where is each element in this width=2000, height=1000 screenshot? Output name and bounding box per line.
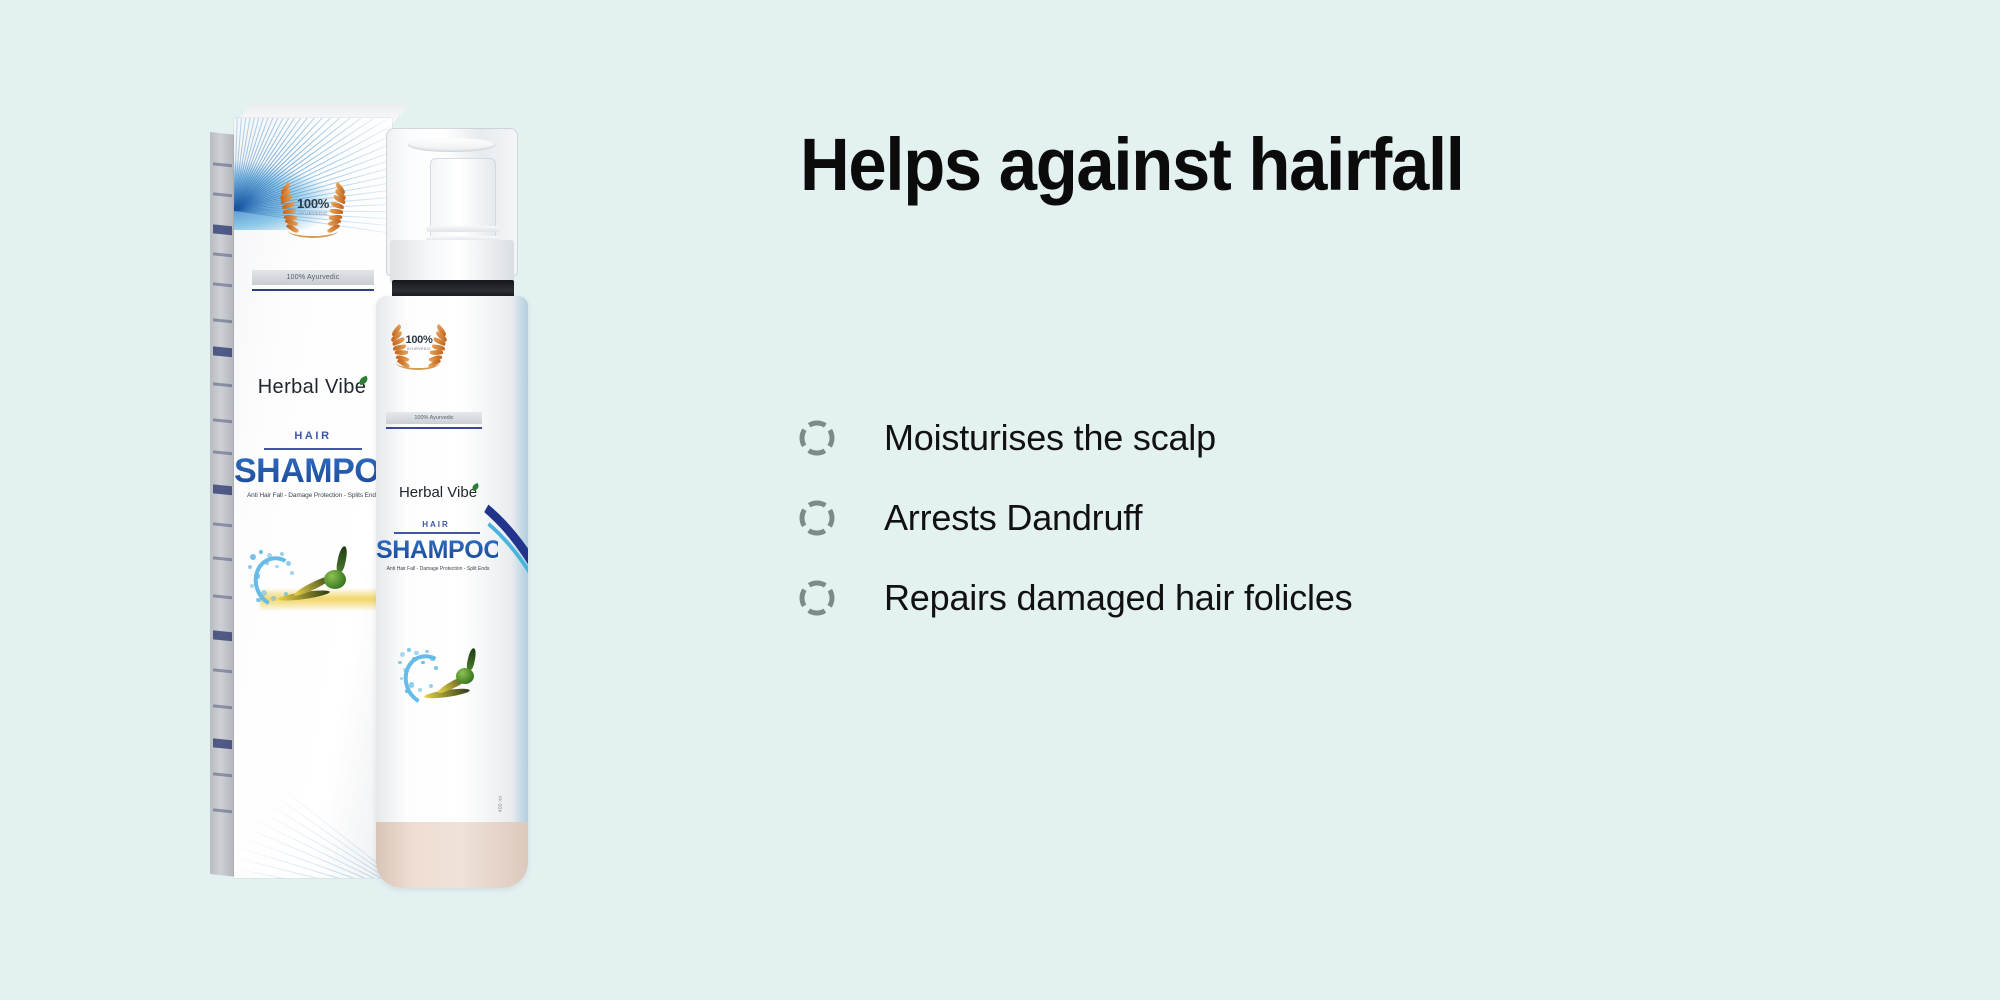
bottle-splash-graphic — [398, 648, 494, 734]
carton-ayurvedic-band: 100% Ayurvedic — [252, 270, 374, 285]
bottle-ayurvedic-band-text: 100% Ayurvedic — [414, 415, 453, 421]
water-splash-icon — [398, 648, 456, 710]
splash-droplet — [434, 666, 438, 670]
bottle-cap-collar — [390, 240, 514, 284]
splash-droplet — [430, 657, 434, 661]
carton-side-text-line — [213, 808, 232, 813]
wreath-base-arc — [288, 223, 338, 238]
bottle-band-rule — [386, 427, 482, 429]
carton-side-text-line — [213, 382, 232, 387]
bottle-category-rule — [394, 532, 480, 534]
olive-fruit-icon — [324, 570, 346, 589]
splash-droplet — [412, 657, 416, 661]
carton-side-text-line — [213, 704, 232, 709]
carton-side-panel — [210, 132, 236, 877]
splash-droplet — [429, 684, 433, 688]
splash-droplet — [250, 584, 254, 588]
wreath-base-arc — [396, 355, 440, 370]
splash-droplet — [248, 565, 252, 569]
splash-droplet — [250, 554, 256, 560]
splash-droplet — [261, 590, 267, 596]
carton-side-text-line — [213, 668, 232, 673]
benefit-item: Moisturises the scalp — [800, 398, 1900, 478]
splash-droplet — [405, 689, 409, 693]
splash-droplet — [421, 661, 424, 664]
benefit-label: Moisturises the scalp — [884, 417, 1216, 459]
carton-side-text-line — [213, 162, 232, 167]
benefits-list: Moisturises the scalpArrests DandruffRep… — [800, 398, 1900, 638]
product-banner: 100% AYURVEDIC 100% Ayurvedic Herbal Vib… — [0, 0, 2000, 1000]
leaf-icon — [471, 483, 480, 491]
wreath-percent-text: 100% — [388, 334, 450, 346]
olive-leaf-icon — [466, 648, 477, 671]
water-splash-icon — [248, 550, 306, 612]
splash-droplet — [280, 552, 284, 556]
carton-side-text-line — [213, 772, 232, 777]
carton-side-text-line — [213, 630, 232, 641]
bottle-base — [376, 822, 528, 888]
dashed-ring-icon — [796, 577, 838, 619]
splash-droplet — [418, 688, 422, 692]
carton-ayurvedic-band-text: 100% Ayurvedic — [287, 274, 340, 281]
carton-side-text-line — [213, 418, 232, 423]
carton-side-text-line — [213, 346, 232, 357]
bottle-category-text: HAIR — [376, 520, 496, 529]
carton-side-text-line — [213, 556, 232, 561]
splash-droplet — [286, 561, 291, 566]
bottle-body-label: 100% AYURVEDIC 100% Ayurvedic Herbal Vib… — [376, 296, 528, 888]
olive-fruit-icon — [456, 668, 474, 684]
benefit-item: Arrests Dandruff — [800, 478, 1900, 558]
benefit-item: Repairs damaged hair folicles — [800, 558, 1900, 638]
ayurvedic-wreath-badge: 100% AYURVEDIC — [276, 180, 350, 242]
bottle-volume-text: 400 ml — [498, 796, 504, 812]
carton-side-text-line — [213, 282, 232, 287]
dashed-ring-icon — [796, 417, 838, 459]
olive-leaf-icon — [335, 545, 348, 572]
splash-droplet — [254, 573, 259, 578]
splash-droplet — [409, 682, 414, 687]
carton-side-text-line — [213, 224, 232, 235]
carton-band-rule — [252, 289, 374, 291]
splash-droplet — [414, 651, 418, 655]
bottle-product-name: SHAMPOO — [376, 536, 498, 565]
splash-droplet — [407, 648, 411, 652]
bottle-brand-name: Herbal Vibe — [376, 484, 502, 501]
splash-droplet — [400, 652, 405, 657]
carton-category-rule — [264, 448, 362, 450]
copy-panel: Helps against hairfall Moisturises the s… — [800, 0, 1920, 1000]
carton-side-text-line — [213, 484, 232, 495]
splash-droplet — [259, 550, 263, 554]
product-bottle: 100% AYURVEDIC 100% Ayurvedic Herbal Vib… — [368, 128, 536, 888]
bottle-ayurvedic-wreath-badge: 100% AYURVEDIC — [388, 322, 450, 374]
splash-droplet — [256, 598, 260, 602]
wreath-percent-text: 100% — [276, 196, 350, 211]
wreath-subtext: AYURVEDIC — [276, 211, 350, 216]
splash-droplet — [271, 596, 276, 601]
splash-droplet — [398, 661, 402, 665]
product-image: 100% AYURVEDIC 100% Ayurvedic Herbal Vib… — [0, 0, 820, 1000]
splash-droplet — [425, 650, 429, 654]
bottle-ayurvedic-band: 100% Ayurvedic — [386, 412, 482, 424]
wreath-left-branch — [390, 322, 416, 380]
product-carton: 100% AYURVEDIC 100% Ayurvedic Herbal Vib… — [210, 118, 392, 878]
carton-side-text-line — [213, 450, 232, 455]
wreath-right-branch — [422, 322, 448, 380]
wreath-subtext: AYURVEDIC — [388, 347, 450, 351]
benefit-label: Arrests Dandruff — [884, 497, 1142, 539]
carton-side-text-line — [213, 594, 232, 599]
carton-side-text-line — [213, 252, 232, 257]
carton-side-text-line — [213, 738, 232, 749]
bottle-tagline: Anti Hair Fall - Damage Protection - Spl… — [376, 566, 500, 572]
dashed-ring-icon — [796, 497, 838, 539]
carton-side-text-line — [213, 192, 232, 197]
carton-side-text-line — [213, 318, 232, 323]
carton-side-text-line — [213, 522, 232, 527]
page-title: Helps against hairfall — [800, 128, 1464, 202]
benefit-label: Repairs damaged hair folicles — [884, 577, 1352, 619]
splash-droplet — [265, 561, 269, 565]
pump-ridge — [426, 226, 500, 232]
